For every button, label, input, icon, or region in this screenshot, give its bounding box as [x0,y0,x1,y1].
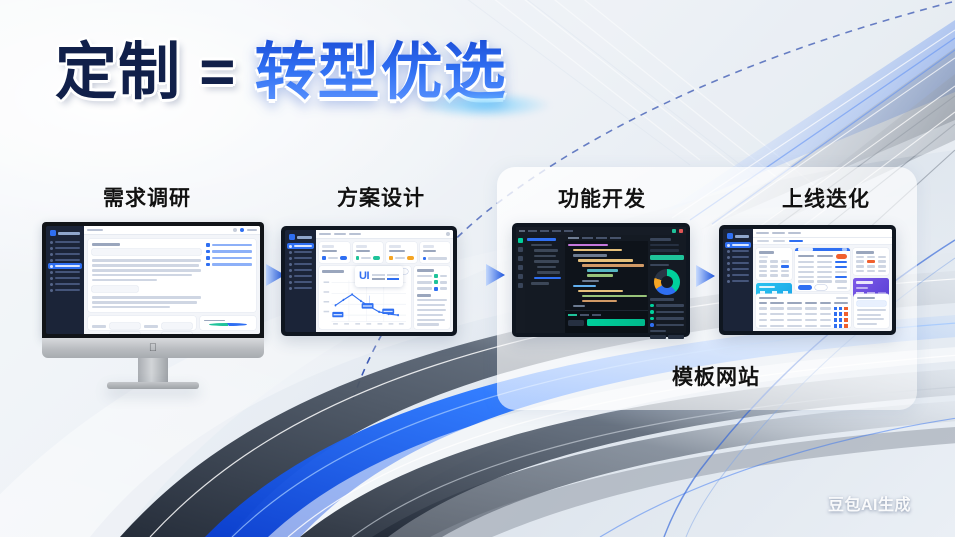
status-list-card [414,266,450,329]
list-item [417,287,447,291]
screen-launch-iteration [723,229,892,331]
step-3-ide-mockup [512,223,690,337]
dot-icon [206,250,210,254]
card-title [759,251,774,254]
data-table-card [756,294,851,328]
table-row [759,307,848,311]
dot-icon [289,263,292,266]
menu-item[interactable] [564,230,573,232]
card-title [857,297,875,299]
card-title [417,269,434,272]
field-label [92,325,106,328]
menu-item[interactable] [528,230,537,232]
row-action-icon[interactable] [839,318,842,322]
status-dot-icon [650,317,654,321]
column-header [834,302,847,305]
kpi-card [319,242,350,263]
donut-chart [654,269,680,295]
card-title [322,270,344,273]
editor-tab[interactable] [582,237,593,239]
ide-activity-bar [516,235,525,333]
list-item [650,317,684,321]
dot-icon [289,287,292,290]
sidebar-logo [725,232,751,242]
panel-title [650,238,671,241]
kpi-card [420,242,451,263]
dot-icon [50,265,53,268]
dot-icon [289,257,292,260]
topbar [316,230,453,239]
tab-item-active[interactable] [789,240,803,243]
watermark: 豆包AI生成 [828,491,911,515]
sidebar [285,230,316,332]
filter-input[interactable] [857,301,887,306]
breadcrumb [772,232,785,235]
kpi-card-row [319,242,450,263]
tab-item[interactable] [319,233,331,236]
bell-icon[interactable] [233,228,237,232]
card-title [92,243,120,246]
dot-icon [50,283,53,286]
settings-icon[interactable] [446,232,450,236]
column-header [770,302,784,305]
dot-icon [289,281,292,284]
tree-root[interactable] [527,238,556,241]
card-action[interactable] [836,297,848,300]
tab-item[interactable] [773,240,785,243]
card-title [856,251,875,254]
summary-card [756,248,792,280]
column-header [759,302,767,305]
row-delete-icon[interactable] [844,307,847,311]
breadcrumb [756,232,769,235]
panel-subtitle [650,264,669,267]
requirement-document-card [88,239,256,312]
dot-icon [206,243,210,247]
kpi-card [353,242,384,263]
trend-icon [389,256,393,260]
dot-icon [289,251,292,254]
list-item [650,323,684,327]
inline-field[interactable] [92,286,138,292]
explorer-icon[interactable] [518,238,523,243]
form-card [88,316,196,330]
column-header [787,302,803,305]
card-title [759,286,775,289]
page-title-part-1: 定制 = [55,38,236,107]
kpi-card [386,242,417,263]
step-label-4: 上线迭化 [782,183,870,213]
search-input[interactable] [92,249,201,255]
avatar[interactable] [240,228,244,232]
stop-icon[interactable] [679,229,683,233]
row-action-icon[interactable] [839,307,842,311]
terminal-tab-active[interactable] [568,314,577,316]
table-row [759,318,848,322]
dot-icon [727,262,730,265]
ide-menubar [516,227,686,235]
slide-canvas: 定制 = 转型优选 需求调研 方案设计 功能开发 上线迭化 模板网站 [0,0,955,537]
step-label-3: 功能开发 [558,183,646,213]
tree-item[interactable] [534,255,556,258]
column-header [805,302,817,305]
screen-requirement-research [46,226,260,334]
trend-icon [322,256,326,260]
field-label [144,325,158,328]
menu-item[interactable] [540,230,549,232]
tab-item[interactable] [757,240,769,243]
step-1-imac-mockup:  [42,222,264,392]
editor-tab[interactable] [610,237,621,239]
status-badge [434,280,438,284]
list-item [417,280,447,284]
imac-stand-neck [138,358,168,384]
dot-icon [289,275,292,278]
secondary-button[interactable] [815,285,827,290]
legend-row [206,250,252,254]
logo-mark-icon [727,233,733,239]
dot-icon [206,263,210,267]
arrow-right-icon-2 [484,262,508,288]
text-input[interactable] [162,323,192,329]
status-badge [434,274,438,278]
dot-icon [289,269,292,272]
debug-icon[interactable] [518,265,523,270]
dot-icon [727,280,730,283]
text-input[interactable] [110,332,140,334]
tree-item[interactable] [537,266,556,269]
table-row [759,312,848,316]
build-progress-bar [587,319,645,326]
main-content [84,226,260,334]
chart-tooltip-card: UI [355,266,403,287]
search-icon[interactable] [518,247,523,252]
editor-tab[interactable] [596,237,607,239]
dot-icon [50,253,53,256]
title-glow-accent [420,92,550,118]
pie-chart-card [200,316,256,330]
status-badge [434,287,438,291]
screen-feature-development [516,227,686,333]
ide-body [516,235,686,333]
sidebar-item[interactable] [48,287,82,293]
badge [407,256,414,260]
summary-card [853,248,889,275]
row-delete-icon[interactable] [844,324,847,328]
step-label-1: 需求调研 [103,182,191,212]
panel-button[interactable] [668,335,684,339]
text-input[interactable] [110,323,140,329]
row-action-icon[interactable] [834,307,837,311]
legend-row [206,256,252,260]
extensions-icon[interactable] [518,274,523,279]
panel-button[interactable] [650,335,666,339]
tab-item[interactable] [349,233,361,236]
sidebar [46,226,84,334]
gear-icon[interactable] [518,283,523,288]
imac-stand-foot [107,382,199,389]
list-item [650,304,684,308]
column-header [820,302,832,305]
editor-tab-active[interactable] [568,237,579,239]
panel-subtitle [650,298,674,301]
source-control-icon[interactable] [518,256,523,261]
tree-item[interactable] [531,244,552,247]
status-dot-icon [650,323,654,327]
breadcrumb [788,232,801,235]
ide-side-panel [648,235,686,333]
topbar [84,226,260,235]
dot-icon [289,245,292,248]
dot-icon [727,250,730,253]
pie-chart [209,323,247,326]
card-title [759,297,777,300]
dot-icon [50,277,53,280]
file-tree [525,235,565,333]
list-item [417,274,447,278]
tree-item-selected[interactable] [534,277,561,280]
text-input[interactable] [162,332,192,334]
row-action-icon[interactable] [839,324,842,328]
row-action-icon[interactable] [834,318,837,322]
status-dot-icon [650,304,654,308]
user-name [247,229,257,232]
tree-item[interactable] [534,260,559,263]
side-panel-card [854,294,890,328]
tree-item[interactable] [531,282,549,285]
panel-primary-button[interactable] [650,255,684,260]
dot-icon [50,271,53,274]
sidebar-logo [287,233,314,243]
imac-bezel [42,222,264,338]
dot-icon [206,256,210,260]
card-subtitle [417,294,432,297]
imac-chin:  [42,338,264,358]
card-title [856,281,873,284]
badge [373,256,380,260]
dot-icon [727,256,730,259]
tab-item[interactable] [334,233,346,236]
dot-icon [727,274,730,277]
logo-mark-icon [50,230,56,236]
terminal-tab[interactable] [580,314,589,316]
row-delete-icon[interactable] [844,318,847,322]
dot-icon [50,289,53,292]
sidebar-item[interactable] [287,285,314,291]
badge-warning [836,254,847,259]
main-content [753,229,892,331]
menu-item[interactable] [552,230,561,232]
tree-item[interactable] [537,271,560,274]
breadcrumb [87,229,103,232]
menu-item[interactable] [519,230,525,232]
table-header-row [759,302,848,305]
tooltip-ui-label: UI [359,271,369,282]
sidebar [723,229,753,331]
tree-item[interactable] [534,249,558,252]
code-lines [565,241,648,310]
dot-icon [727,268,730,271]
dot-icon [50,241,53,244]
highlighted-table-card [795,248,849,291]
logo-mark-icon [289,234,295,240]
row-action-icon[interactable] [834,324,837,328]
topbar [753,229,892,238]
sidebar-logo [48,229,82,239]
apple-logo-icon:  [149,343,157,354]
row-delete-icon[interactable] [844,312,847,316]
arrow-right-icon-3 [694,263,718,289]
terminal-panel [565,310,648,333]
terminal-tab[interactable] [592,314,601,316]
list-item [650,310,684,314]
status-dot-icon [650,310,654,314]
badge [340,256,347,260]
terminal-label [568,320,584,326]
run-icon[interactable] [672,229,676,233]
dot-icon [50,259,53,262]
code-editor[interactable] [565,235,648,333]
row-action-icon[interactable] [839,312,842,316]
legend-row [206,243,252,247]
primary-button[interactable] [798,285,812,290]
trend-icon [356,256,360,260]
panel-caption: 模板网站 [672,361,760,391]
step-4-dashboard-mockup [719,225,896,335]
row-action-icon[interactable] [834,312,837,316]
table-row [759,324,848,328]
dot-icon [50,247,53,250]
step-label-2: 方案设计 [337,182,425,212]
sidebar-item[interactable] [725,278,751,284]
legend-row [206,263,252,267]
trend-icon [423,257,427,261]
tab-strip [753,238,892,245]
dot-icon [727,244,730,247]
